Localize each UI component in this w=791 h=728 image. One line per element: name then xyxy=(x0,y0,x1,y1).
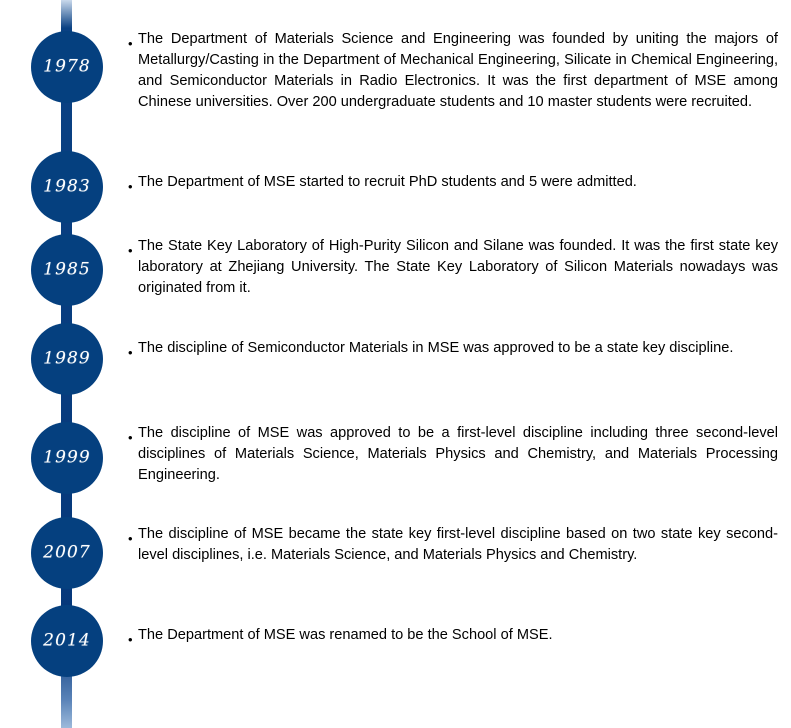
timeline-node-1983[interactable]: 1983 xyxy=(31,151,103,223)
bullet-icon: • xyxy=(128,244,138,257)
timeline-entry-1999: • The discipline of MSE was approved to … xyxy=(128,423,778,486)
timeline-node-2007[interactable]: 2007 xyxy=(31,517,103,589)
timeline-entry-2007: • The discipline of MSE became the state… xyxy=(128,524,778,566)
timeline-node-1985[interactable]: 1985 xyxy=(31,234,103,306)
entry-text: The discipline of MSE was approved to be… xyxy=(138,423,778,486)
timeline-node-1989[interactable]: 1989 xyxy=(31,323,103,395)
bullet-icon: • xyxy=(128,37,138,50)
timeline-canvas: 1978 • The Department of Materials Scien… xyxy=(0,0,791,728)
bullet-icon: • xyxy=(128,346,138,359)
bullet-icon: • xyxy=(128,633,138,646)
timeline-node-1978[interactable]: 1978 xyxy=(31,31,103,103)
timeline-entry-2014: • The Department of MSE was renamed to b… xyxy=(128,625,778,646)
bullet-icon: • xyxy=(128,431,138,444)
year-label: 1989 xyxy=(31,351,103,368)
entry-text: The discipline of Semiconductor Material… xyxy=(138,338,778,359)
timeline-entry-1985: • The State Key Laboratory of High-Purit… xyxy=(128,236,778,299)
timeline-entry-1989: • The discipline of Semiconductor Materi… xyxy=(128,338,778,359)
timeline-entry-1983: • The Department of MSE started to recru… xyxy=(128,172,778,193)
year-label: 2014 xyxy=(31,633,103,650)
year-label: 1983 xyxy=(31,179,103,196)
timeline-node-1999[interactable]: 1999 xyxy=(31,422,103,494)
timeline-entry-1978: • The Department of Materials Science an… xyxy=(128,29,778,113)
entry-text: The State Key Laboratory of High-Purity … xyxy=(138,236,778,299)
entry-text: The Department of MSE started to recruit… xyxy=(138,172,778,193)
entry-text: The Department of MSE was renamed to be … xyxy=(138,625,778,646)
bullet-icon: • xyxy=(128,180,138,193)
timeline-node-2014[interactable]: 2014 xyxy=(31,605,103,677)
year-label: 1978 xyxy=(31,59,103,76)
year-label: 1999 xyxy=(31,450,103,467)
bullet-icon: • xyxy=(128,532,138,545)
year-label: 2007 xyxy=(31,545,103,562)
year-label: 1985 xyxy=(31,262,103,279)
entry-text: The discipline of MSE became the state k… xyxy=(138,524,778,566)
entry-text: The Department of Materials Science and … xyxy=(138,29,778,113)
